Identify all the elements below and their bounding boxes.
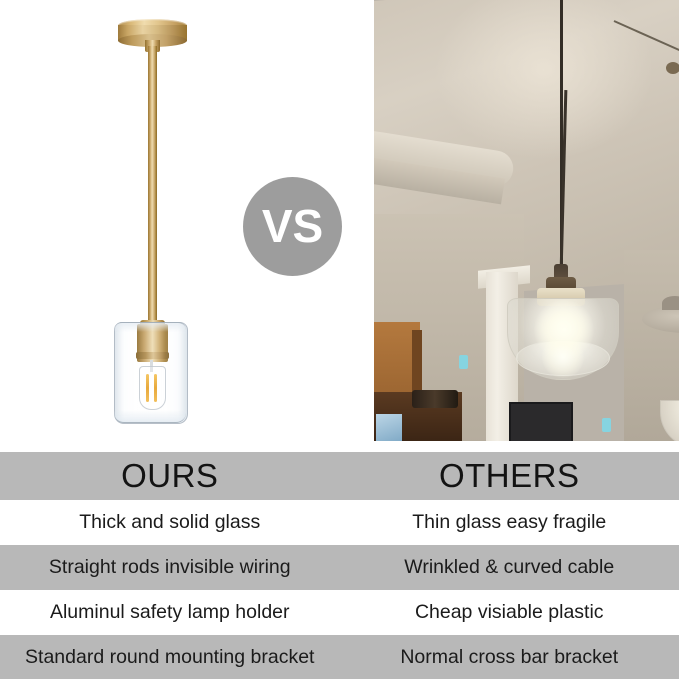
cell-ours: Standard round mounting bracket (0, 635, 340, 679)
column-header-others: OTHERS (340, 452, 679, 500)
glass-top-rim-icon (114, 322, 186, 332)
ceiling-anchor (666, 62, 679, 74)
wall-switch-icon (459, 355, 468, 369)
ceiling-fixture-knob (662, 296, 679, 310)
filament-icon (154, 374, 157, 402)
comparison-table: OURS OTHERS Thick and solid glass Thin g… (0, 452, 679, 679)
table-row: Straight rods invisible wiring Wrinkled … (0, 545, 679, 590)
cell-others: Normal cross bar bracket (340, 635, 679, 679)
table-row: Aluminul safety lamp holder Cheap visiab… (0, 590, 679, 635)
wall-switch-icon (602, 418, 611, 432)
bulb-glass-icon (139, 366, 166, 410)
blue-package (376, 414, 402, 441)
table-header-row: OURS OTHERS (0, 452, 679, 500)
cell-ours: Straight rods invisible wiring (0, 545, 340, 590)
cell-others: Wrinkled & curved cable (340, 545, 679, 590)
filament-icon (146, 374, 149, 402)
bulb-glow-icon (542, 336, 584, 378)
cell-others: Cheap visiable plastic (340, 590, 679, 635)
vs-badge: VS (243, 177, 342, 276)
others-room-photo (374, 0, 679, 441)
table-row: Standard round mounting bracket Normal c… (0, 635, 679, 679)
table-row: Thick and solid glass Thin glass easy fr… (0, 500, 679, 545)
column-header-ours: OURS (0, 452, 340, 500)
glass-bottom-rim-icon (114, 410, 186, 423)
counter-clutter (412, 390, 458, 408)
comparison-hero: VS (0, 0, 679, 452)
cell-others: Thin glass easy fragile (340, 500, 679, 545)
cell-ours: Thick and solid glass (0, 500, 340, 545)
vs-label: VS (262, 203, 323, 251)
down-rod-icon (148, 46, 157, 328)
picture-frame (509, 402, 573, 441)
cell-ours: Aluminul safety lamp holder (0, 590, 340, 635)
